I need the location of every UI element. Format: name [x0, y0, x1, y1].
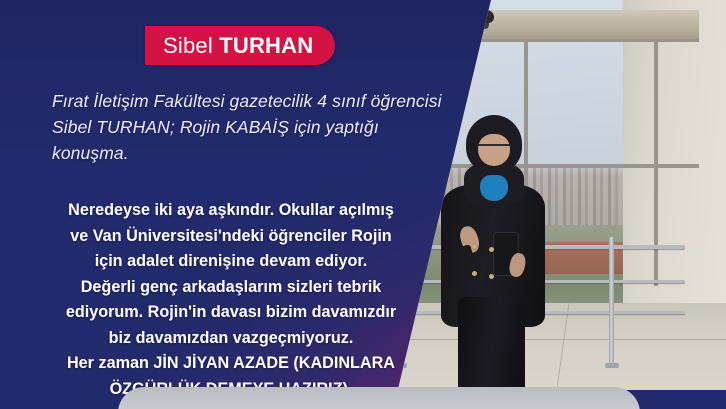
quote-line: ediyorum. Rojin'in davası bizim davamızd… [28, 300, 434, 326]
intro-paragraph: Fırat İletişim Fakültesi gazetecilik 4 s… [52, 88, 452, 166]
person-blue-collar [480, 175, 507, 202]
quote-line: ve Van Üniversitesi'ndeki öğrenciler Roj… [28, 224, 434, 250]
speaker-name-badge: Sibel TURHAN [145, 26, 335, 65]
speaker-first-name: Sibel [163, 33, 219, 58]
quote-line: Her zaman JİN JİYAN AZADE (KADINLARA [28, 351, 434, 377]
person-glasses [477, 144, 512, 154]
bottom-gray-sheet [118, 387, 640, 409]
quote-line: Neredeyse iki aya aşkındır. Okullar açıl… [28, 198, 434, 224]
quote-line: için adalet direnişine devam ediyor. [28, 249, 434, 275]
quote-block: Neredeyse iki aya aşkındır. Okullar açıl… [28, 198, 434, 402]
slide-canvas: Sibel TURHAN Fırat İletişim Fakültesi ga… [0, 0, 726, 409]
balcony-post-3 [609, 237, 614, 368]
quote-line: Değerli genç arkadaşlarım sizleri tebrik [28, 275, 434, 301]
speaker-name-text: Sibel TURHAN [163, 33, 313, 59]
window-mullion-vertical-right [654, 39, 658, 286]
quote-line: biz davamızdan vazgeçmiyoruz. [28, 326, 434, 352]
speaker-last-name: TURHAN [219, 33, 313, 58]
